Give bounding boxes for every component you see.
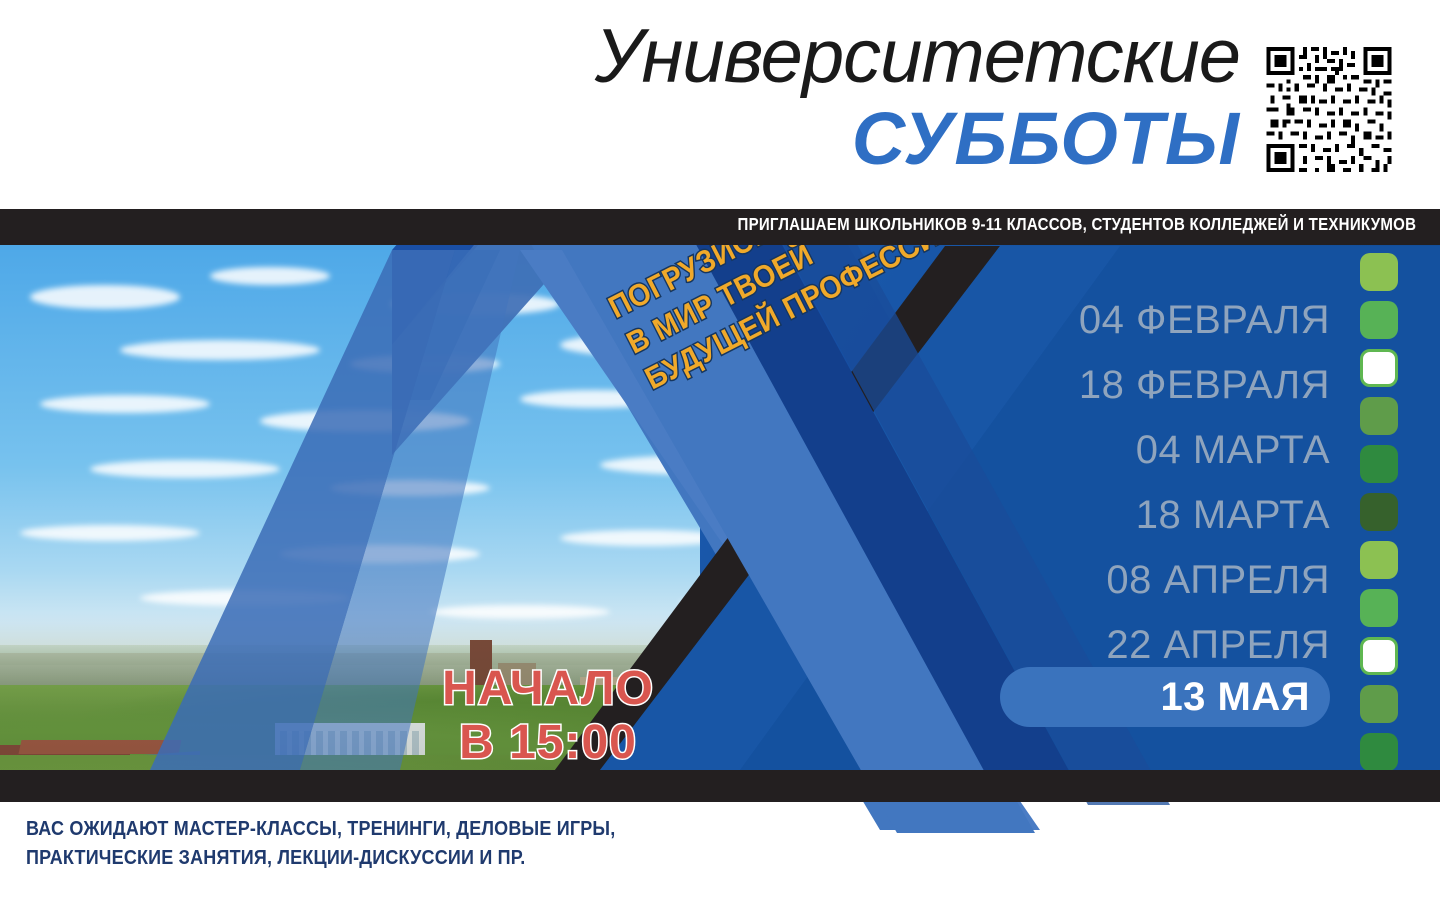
schedule-date[interactable]: 04 МАРТА xyxy=(1000,418,1330,483)
green-square-strip xyxy=(1360,253,1400,781)
start-time-line-1: НАЧАЛО xyxy=(428,662,668,716)
schedule-date[interactable]: 18 ФЕВРАЛЯ xyxy=(1000,353,1330,418)
green-square xyxy=(1360,253,1398,291)
green-square xyxy=(1360,589,1398,627)
diagonal-slogan: ПОГРУЗИСЬ В МИР ТВОЕЙ БУДУЩЕЙ ПРОФЕССИИ xyxy=(612,246,972,461)
green-square xyxy=(1360,301,1398,339)
highlighted-date-label[interactable]: 13 МАЯ xyxy=(1000,667,1310,727)
title-line-1: Университетские xyxy=(595,14,1240,100)
start-time-line-2: В 15:00 xyxy=(428,716,668,770)
poster-title: Университетские СУББОТЫ xyxy=(595,14,1240,178)
green-square xyxy=(1360,445,1398,483)
schedule-date[interactable]: 04 ФЕВРАЛЯ xyxy=(1000,288,1330,353)
green-square-hollow xyxy=(1360,349,1398,387)
invite-banner-text: ПРИГЛАШАЕМ ШКОЛЬНИКОВ 9-11 КЛАССОВ, СТУД… xyxy=(737,214,1416,235)
title-line-2: СУББОТЫ xyxy=(595,100,1240,178)
qr-code[interactable] xyxy=(1262,43,1396,176)
green-square xyxy=(1360,493,1398,531)
footer-line-1: ВАС ОЖИДАЮТ МАСТЕР-КЛАССЫ, ТРЕНИНГИ, ДЕЛ… xyxy=(26,815,615,844)
header: Университетские СУББОТЫ xyxy=(0,0,1440,209)
poster-root: Университетские СУББОТЫ xyxy=(0,0,1440,900)
footer-line-2: ПРАКТИЧЕСКИЕ ЗАНЯТИЯ, ЛЕКЦИИ-ДИСКУССИИ И… xyxy=(26,844,615,873)
green-square-hollow xyxy=(1360,637,1398,675)
footer-text: ВАС ОЖИДАЮТ МАСТЕР-КЛАССЫ, ТРЕНИНГИ, ДЕЛ… xyxy=(26,815,615,873)
green-square xyxy=(1360,733,1398,771)
schedule-date[interactable]: 08 АПРЕЛЯ xyxy=(1000,548,1330,613)
bottom-black-bar xyxy=(0,770,1440,802)
schedule-date[interactable]: 18 МАРТА xyxy=(1000,483,1330,548)
green-square xyxy=(1360,397,1398,435)
green-square xyxy=(1360,685,1398,723)
green-square xyxy=(1360,541,1398,579)
schedule-date-list: 04 ФЕВРАЛЯ 18 ФЕВРАЛЯ 04 МАРТА 18 МАРТА … xyxy=(1000,288,1330,678)
start-time: НАЧАЛО В 15:00 xyxy=(428,662,668,770)
